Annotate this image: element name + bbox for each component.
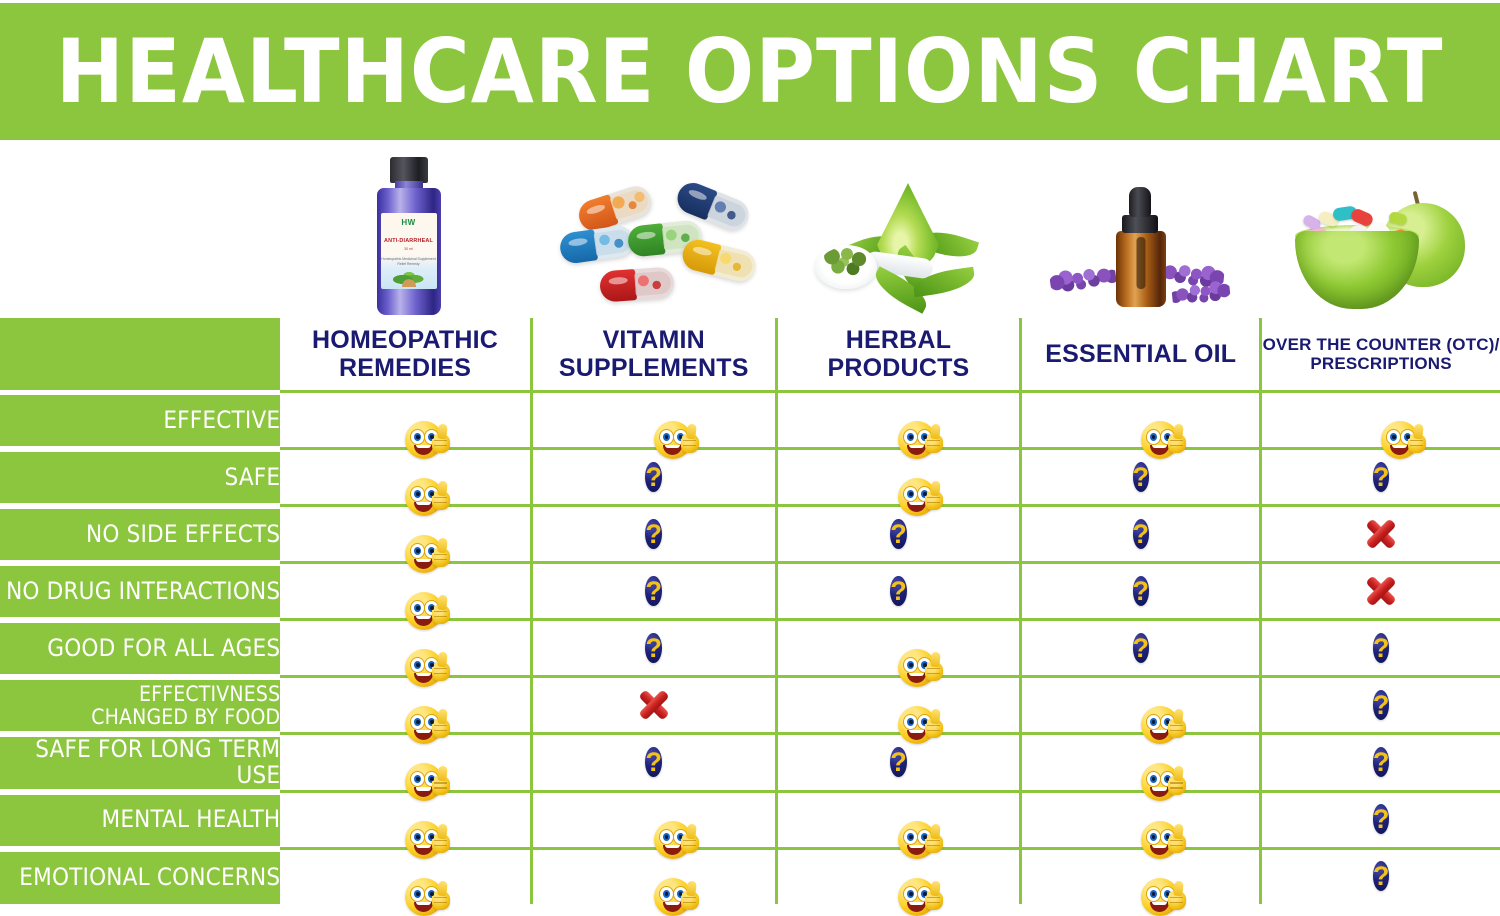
rating-cell <box>280 393 530 450</box>
row-label-cell: NO SIDE EFFECTS <box>0 507 280 564</box>
column-header-line1: HOMEOPATHIC <box>312 326 498 354</box>
row-label-text: EMOTIONAL CONCERNS <box>19 863 280 891</box>
rating-cell <box>775 793 1020 850</box>
healthcare-options-comparison-table: HOMEOPATHICREMEDIESVITAMINSUPPLEMENTSHER… <box>0 318 1500 904</box>
dropper-collar <box>1122 215 1158 233</box>
row-label-text: NO SIDE EFFECTS <box>86 520 280 548</box>
rating-cell: ? <box>1019 564 1259 621</box>
row-label-text: MENTAL HEALTH <box>102 805 281 833</box>
capsule-red <box>599 266 675 302</box>
question-mark-icon: ? <box>1373 458 1390 497</box>
rating-cell <box>1019 735 1259 793</box>
column-header-line1: HERBAL <box>846 326 951 354</box>
rating-cell: ? <box>775 507 1020 564</box>
rating-cell <box>280 621 530 678</box>
column-header-essential_oil: ESSENTIAL OIL <box>1019 318 1259 393</box>
rating-cell <box>775 393 1020 450</box>
rating-cell <box>530 393 775 450</box>
question-mark-icon: ? <box>1133 515 1150 554</box>
bottle-size-text: 30 ml <box>381 247 437 251</box>
rating-cell <box>1259 564 1500 621</box>
row-label-cell: NO DRUG INTERACTIONS <box>0 564 280 621</box>
rating-cell <box>1019 793 1259 850</box>
question-mark-icon: ? <box>1373 857 1390 896</box>
table-corner-cell <box>0 318 280 393</box>
rating-cell: ? <box>1019 621 1259 678</box>
product-image-homeopathic: HW ANTI-DIARRHEAL 30 ml Homeopathic Medi… <box>283 145 534 315</box>
rating-cell <box>775 678 1020 735</box>
rating-cell <box>280 450 530 507</box>
table-row: EMOTIONAL CONCERNS? <box>0 850 1500 904</box>
column-header-herbal: HERBALPRODUCTS <box>775 318 1020 393</box>
bottle-cap <box>390 157 428 183</box>
table-row: NO SIDE EFFECTS??? <box>0 507 1500 564</box>
table-row: MENTAL HEALTH? <box>0 793 1500 850</box>
column-header-otc: OVER THE COUNTER (OTC)/PRESCRIPTIONS <box>1259 318 1500 393</box>
rating-cell <box>775 850 1020 904</box>
homeopathic-remedy-bottle-image: HW ANTI-DIARRHEAL 30 ml Homeopathic Medi… <box>373 157 445 315</box>
rating-cell: ? <box>1259 450 1500 507</box>
rating-cell: ? <box>1019 507 1259 564</box>
apple-bowl <box>1295 231 1419 309</box>
column-header-line1: ESSENTIAL OIL <box>1045 340 1236 368</box>
question-mark-icon: ? <box>1133 458 1150 497</box>
table-row: NO DRUG INTERACTIONS??? <box>0 564 1500 621</box>
rating-cell <box>280 850 530 904</box>
rating-cell: ? <box>530 564 775 621</box>
otc-pills-apple-bowl-image <box>1285 173 1475 315</box>
rating-cell <box>280 793 530 850</box>
rating-cell <box>775 450 1020 507</box>
rating-cell: ? <box>530 450 775 507</box>
table-row: SAFE FOR LONG TERM USE??? <box>0 735 1500 793</box>
row-label-cell: SAFE FOR LONG TERM USE <box>0 735 280 793</box>
vitamin-capsules-image <box>556 189 756 309</box>
column-header-line1: OVER THE COUNTER (OTC)/ <box>1263 335 1500 354</box>
question-mark-icon: ? <box>1373 743 1390 782</box>
rating-cell: ? <box>1259 793 1500 850</box>
column-header-line2: PRESCRIPTIONS <box>1310 354 1451 373</box>
question-mark-icon: ? <box>1133 572 1150 611</box>
question-mark-icon: ? <box>1373 629 1390 668</box>
table-row: EFFECTIVNESSCHANGED BY FOOD? <box>0 678 1500 735</box>
question-mark-icon: ? <box>890 743 907 782</box>
amber-bottle-body <box>1116 231 1166 307</box>
rating-cell: ? <box>1259 678 1500 735</box>
table-row: SAFE??? <box>0 450 1500 507</box>
rating-cell <box>280 678 530 735</box>
row-label-text: SAFE <box>224 463 280 491</box>
rating-cell: ? <box>1259 735 1500 793</box>
rating-cell <box>280 507 530 564</box>
column-header-line1: VITAMIN <box>603 326 705 354</box>
chart-title-banner: HEALTHCARE OPTIONS CHART <box>0 3 1500 140</box>
question-mark-icon: ? <box>1133 629 1150 668</box>
row-label-line1: EFFECTIVNESS <box>139 682 280 706</box>
rating-cell <box>1259 507 1500 564</box>
rating-cell <box>1019 850 1259 904</box>
rating-cell <box>1019 678 1259 735</box>
row-label-text: GOOD FOR ALL AGES <box>47 634 280 662</box>
column-header-line2: PRODUCTS <box>828 354 970 382</box>
question-mark-icon: ? <box>890 515 907 554</box>
rating-cell: ? <box>530 507 775 564</box>
product-image-herbal <box>777 145 1021 315</box>
bottle-brand-text: HW <box>401 218 415 227</box>
row-label-text: SAFE FOR LONG TERM USE <box>35 735 280 789</box>
rating-cell: ? <box>1259 621 1500 678</box>
question-mark-icon: ? <box>1373 800 1390 839</box>
lavender-sprig <box>1170 278 1230 308</box>
rating-cell: ? <box>775 564 1020 621</box>
rating-cell <box>1019 393 1259 450</box>
product-image-essential-oil <box>1021 145 1260 315</box>
table-row: EFFECTIVE <box>0 393 1500 450</box>
product-image-strip: HW ANTI-DIARRHEAL 30 ml Homeopathic Medi… <box>283 145 1500 315</box>
rating-cell: ? <box>530 621 775 678</box>
herbal-products-image <box>809 175 989 315</box>
page-title: HEALTHCARE OPTIONS CHART <box>56 28 1444 116</box>
column-header-vitamins: VITAMINSUPPLEMENTS <box>530 318 775 393</box>
lavender-sprig <box>1048 263 1117 296</box>
bottle-product-name: ANTI-DIARRHEAL <box>381 238 437 244</box>
essential-oil-bottle-image <box>1046 185 1236 315</box>
column-header-homeopathic: HOMEOPATHICREMEDIES <box>280 318 530 393</box>
row-label-cell: EFFECTIVNESSCHANGED BY FOOD <box>0 678 280 735</box>
question-mark-icon: ? <box>645 629 662 668</box>
question-mark-icon: ? <box>890 572 907 611</box>
column-header-line2: REMEDIES <box>339 354 471 382</box>
product-image-otc <box>1260 145 1500 315</box>
row-label-cell: EFFECTIVE <box>0 393 280 450</box>
question-mark-icon: ? <box>645 743 662 782</box>
row-label-cell: MENTAL HEALTH <box>0 793 280 850</box>
question-mark-icon: ? <box>645 515 662 554</box>
rating-cell <box>530 793 775 850</box>
question-mark-icon: ? <box>645 458 662 497</box>
bottle-description-text: Homeopathic Medicinal Supplement Relief … <box>381 257 437 267</box>
question-mark-icon: ? <box>1373 686 1390 725</box>
rating-cell <box>775 621 1020 678</box>
dried-herbs-graphic <box>821 247 871 279</box>
capsule-blue <box>558 224 636 265</box>
row-label-cell: SAFE <box>0 450 280 507</box>
table-header-row: HOMEOPATHICREMEDIESVITAMINSUPPLEMENTSHER… <box>0 318 1500 393</box>
rating-cell <box>1259 393 1500 450</box>
row-label-text: NO DRUG INTERACTIONS <box>6 577 280 605</box>
row-label-text: EFFECTIVE <box>163 406 280 434</box>
rating-cell: ? <box>775 735 1020 793</box>
question-mark-icon: ? <box>645 572 662 611</box>
rating-cell: ? <box>1259 850 1500 904</box>
rating-cell <box>530 678 775 735</box>
rating-cell <box>530 850 775 904</box>
row-label-line2: CHANGED BY FOOD <box>91 705 280 729</box>
row-label-cell: GOOD FOR ALL AGES <box>0 621 280 678</box>
bottle-herb-graphic <box>392 269 426 287</box>
table-row: GOOD FOR ALL AGES??? <box>0 621 1500 678</box>
rating-cell: ? <box>530 735 775 793</box>
capsule-yellow <box>679 237 758 285</box>
product-image-vitamins <box>534 145 777 315</box>
bottle-label: HW ANTI-DIARRHEAL 30 ml Homeopathic Medi… <box>381 213 437 289</box>
rating-cell <box>280 564 530 621</box>
rating-cell <box>280 735 530 793</box>
row-label-cell: EMOTIONAL CONCERNS <box>0 850 280 904</box>
dropper-bulb <box>1129 187 1151 217</box>
column-header-line2: SUPPLEMENTS <box>559 354 749 382</box>
pill <box>1388 211 1408 227</box>
rating-cell: ? <box>1019 450 1259 507</box>
